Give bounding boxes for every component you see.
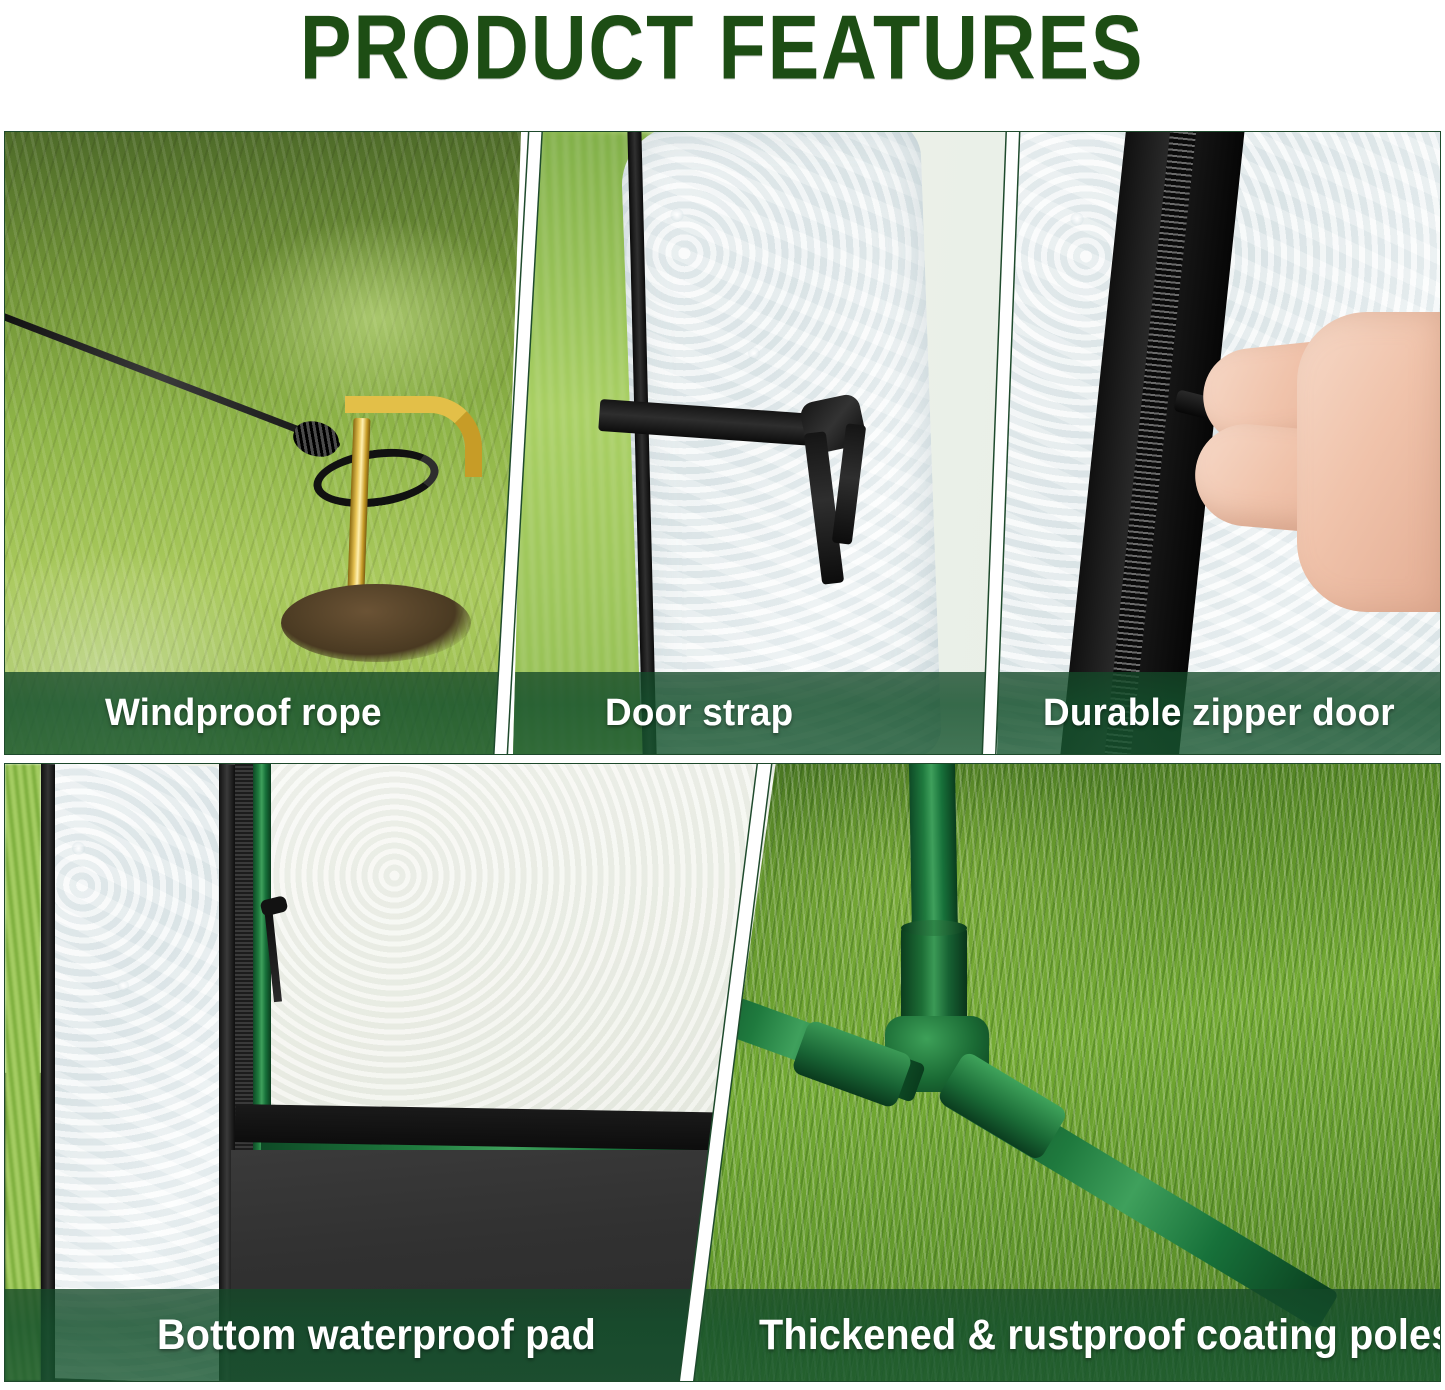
feature-label-windproof-rope: Windproof rope bbox=[105, 692, 382, 735]
feature-panel-windproof-rope[interactable]: Windproof rope bbox=[5, 132, 521, 754]
feature-label-door-strap: Door strap bbox=[605, 692, 793, 735]
feature-panel-zipper-door[interactable]: Durable zipper door bbox=[997, 132, 1441, 754]
label-band-coating-poles: Thickened & rustproof coating poles bbox=[689, 1289, 1441, 1381]
feature-panel-door-strap[interactable]: Door strap bbox=[513, 132, 1007, 754]
label-band-door-strap: Door strap bbox=[513, 672, 1007, 754]
label-band-zipper-door: Durable zipper door bbox=[997, 672, 1441, 754]
feature-label-coating-poles: Thickened & rustproof coating poles bbox=[759, 1311, 1441, 1360]
connector-collar-rim bbox=[901, 920, 967, 936]
photo-door-strap bbox=[513, 132, 1007, 754]
soil-mound bbox=[281, 584, 471, 662]
feature-panel-coating-poles[interactable]: Thickened & rustproof coating poles bbox=[689, 764, 1441, 1381]
feature-label-waterproof-pad: Bottom waterproof pad bbox=[157, 1311, 596, 1360]
feature-panel-waterproof-pad[interactable]: Bottom waterproof pad bbox=[5, 764, 777, 1381]
rope-knot bbox=[289, 416, 343, 463]
right-leg-connector bbox=[936, 1050, 1069, 1162]
hand-palm bbox=[1297, 312, 1441, 612]
page-title: PRODUCT FEATURES bbox=[300, 2, 1144, 93]
photo-windproof-rope bbox=[5, 132, 521, 754]
label-band-windproof-rope: Windproof rope bbox=[5, 672, 521, 754]
photo-zipper-door bbox=[997, 132, 1441, 754]
windproof-rope-line bbox=[5, 306, 341, 449]
feature-collage: Windproof rope Door strap bbox=[4, 131, 1441, 1382]
feature-row-bottom: Bottom waterproof pad Thi bbox=[4, 763, 1441, 1382]
corner-frame-pole bbox=[253, 764, 271, 1154]
label-band-waterproof-pad: Bottom waterproof pad bbox=[5, 1289, 777, 1381]
title-bar: PRODUCT FEATURES bbox=[0, 0, 1445, 130]
feature-row-top: Windproof rope Door strap bbox=[4, 131, 1441, 755]
feature-label-zipper-door: Durable zipper door bbox=[1043, 692, 1395, 735]
back-wall-panel bbox=[267, 764, 777, 1136]
